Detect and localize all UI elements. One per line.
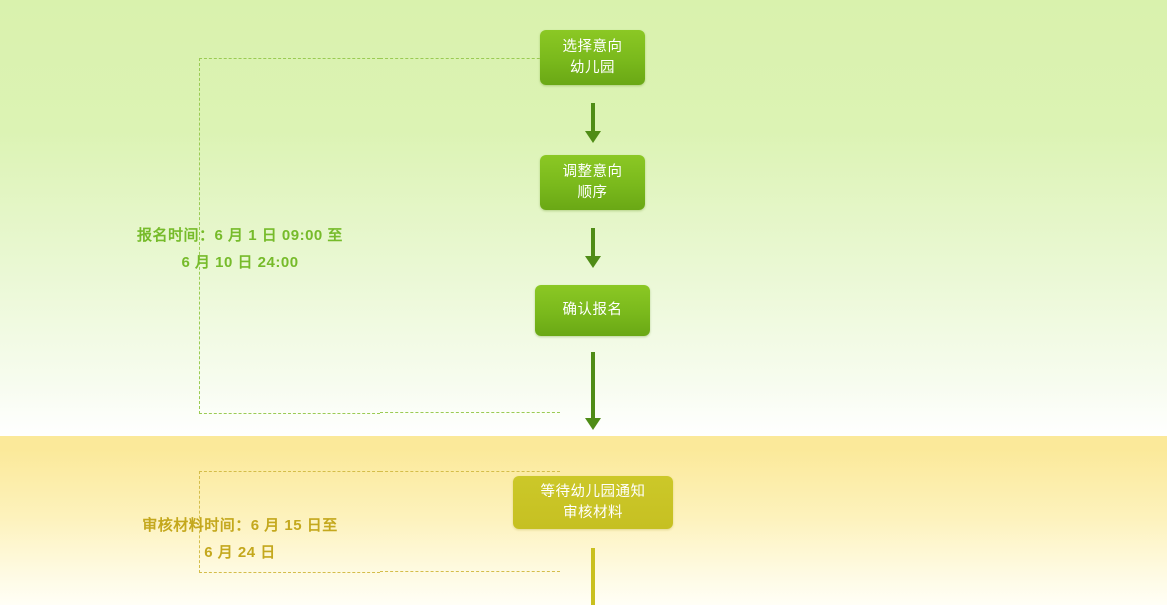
step-adjust-preference-order[interactable]: 调整意向 顺序 [540,155,645,210]
bracket-tick-bottom [380,412,560,413]
arrow-step2-to-step3 [584,228,602,268]
arrow-step1-to-step2 [584,103,602,143]
arrow-head [585,418,601,430]
arrow-step4-to-next [584,548,602,605]
arrow-shaft [591,103,595,131]
arrow-shaft [591,548,595,605]
arrow-head [585,131,601,143]
registration-period-label: 报名时间：6 月 1 日 09:00 至 6 月 10 日 24:00 [70,222,410,276]
arrow-shaft [591,228,595,256]
bracket-tick-bottom [380,571,560,572]
flowchart-canvas: 报名时间：6 月 1 日 09:00 至 6 月 10 日 24:00 审核材料… [0,0,1167,605]
step-wait-for-material-review[interactable]: 等待幼儿园通知 审核材料 [513,476,673,529]
arrow-shaft [591,352,595,418]
bracket-tick-top [380,58,560,59]
arrow-head [585,256,601,268]
step-confirm-registration[interactable]: 确认报名 [535,285,650,336]
arrow-step3-to-step4 [584,352,602,430]
bracket-tick-top [380,471,560,472]
step-select-kindergarten[interactable]: 选择意向 幼儿园 [540,30,645,85]
review-period-label: 审核材料时间：6 月 15 日至 6 月 24 日 [70,512,410,566]
